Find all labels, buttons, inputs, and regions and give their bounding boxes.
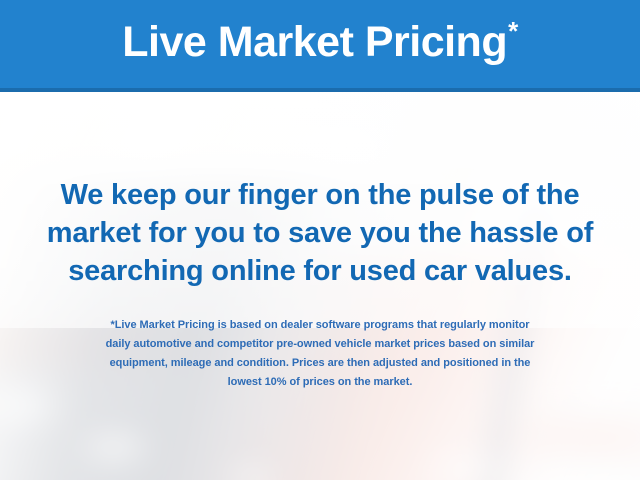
banner-title-text: Live Market Pricing <box>122 18 507 66</box>
disclaimer-line-2: daily automotive and competitor pre-owne… <box>0 335 640 354</box>
banner-title-asterisk: * <box>508 16 518 46</box>
disclaimer-block: *Live Market Pricing is based on dealer … <box>0 316 640 392</box>
disclaimer-line-3: equipment, mileage and condition. Prices… <box>0 354 640 373</box>
banner-title: Live Market Pricing* <box>122 21 517 64</box>
headline-line-2: market for you to save you the hassle of <box>0 214 640 252</box>
headline-line-1: We keep our finger on the pulse of the <box>0 176 640 214</box>
disclaimer-line-1: *Live Market Pricing is based on dealer … <box>0 316 640 335</box>
header-banner: Live Market Pricing* <box>0 0 640 92</box>
headline-block: We keep our finger on the pulse of the m… <box>0 176 640 290</box>
promo-slide: Live Market Pricing* We keep our finger … <box>0 0 640 480</box>
disclaimer-line-4: lowest 10% of prices on the market. <box>0 373 640 392</box>
headline-line-3: searching online for used car values. <box>0 252 640 290</box>
